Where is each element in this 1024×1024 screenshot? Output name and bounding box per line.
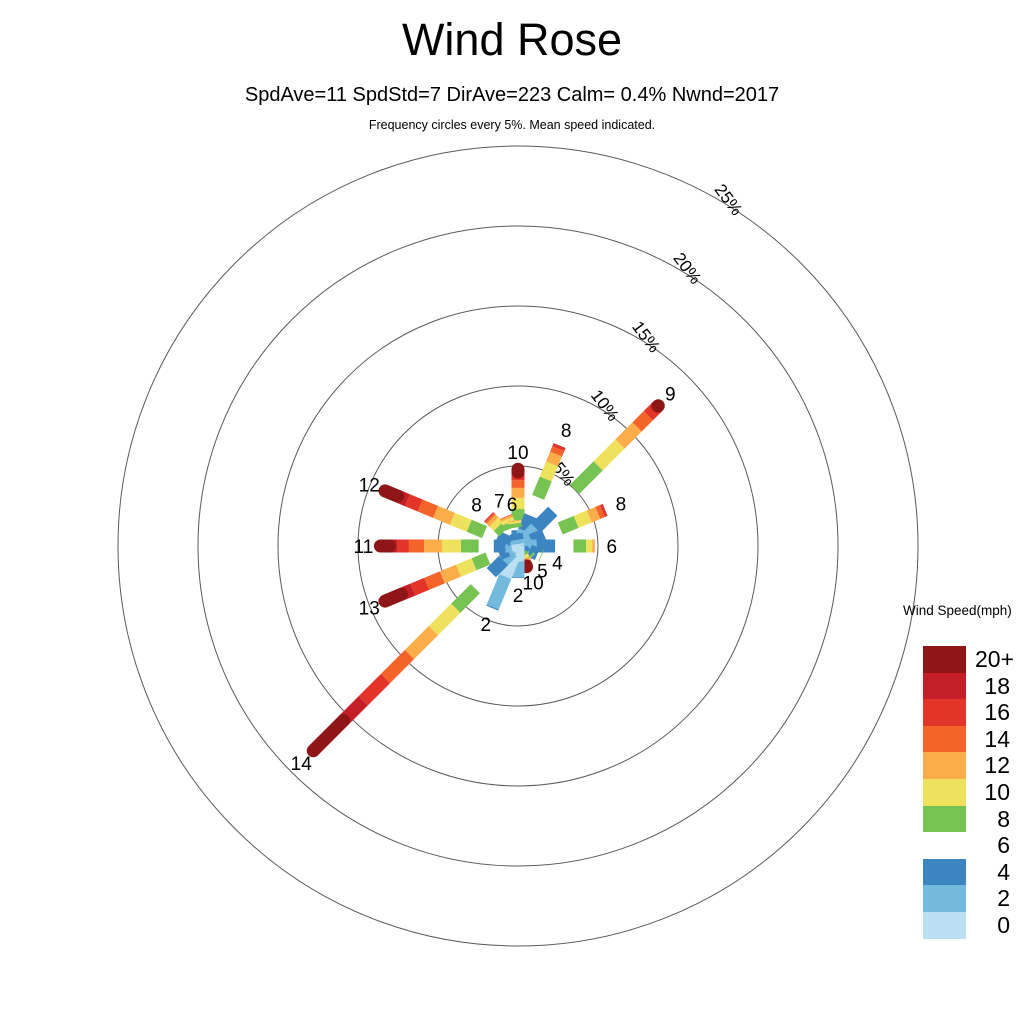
- petal-segment: [485, 532, 498, 537]
- petal-segment: [489, 517, 490, 518]
- wind-rose-plot: 5%10%15%20%25% 10898645102214131112876: [0, 0, 1024, 1024]
- petal-segment: [469, 526, 484, 532]
- petal-segment: [558, 446, 559, 448]
- petal-segment: [531, 497, 539, 515]
- legend-row: 12: [923, 752, 1024, 779]
- petal-mean-speed-label: 11: [354, 537, 374, 558]
- legend-row: 6: [923, 832, 1024, 859]
- petal-segment: [536, 511, 553, 528]
- petal-segment: [420, 505, 435, 511]
- petal-mean-speed-label: 2: [513, 586, 524, 607]
- petal-segment: [556, 449, 558, 454]
- petal-segment: [620, 427, 637, 444]
- petal-segment: [544, 529, 560, 536]
- wind-rose-page: Wind Rose SpdAve=11 SpdStd=7 DirAve=223 …: [0, 0, 1024, 1024]
- legend-label: 10: [966, 779, 1024, 806]
- legend-swatch: [923, 859, 966, 886]
- legend-row: 2: [923, 885, 1024, 912]
- petal-segment: [538, 479, 546, 497]
- petal-segment: [498, 526, 503, 531]
- petal-segment: [363, 678, 385, 700]
- legend-label: 4: [966, 859, 1024, 886]
- legend-swatch: [923, 806, 966, 833]
- legend-label: 0: [966, 912, 1024, 939]
- petal-segment: [385, 491, 398, 496]
- petal-segment: [490, 518, 492, 520]
- petal-mean-speed-label: 9: [665, 385, 676, 406]
- petal-segment: [491, 519, 494, 522]
- petal-segment: [552, 454, 556, 464]
- ring-label-20: 20%: [669, 249, 705, 288]
- petal-segment: [458, 564, 474, 570]
- petal-mean-speed-label: 4: [552, 553, 563, 574]
- petal-segment: [436, 512, 453, 519]
- legend-label: 16: [966, 699, 1024, 726]
- legend-row: 18: [923, 673, 1024, 700]
- petal-mean-speed-label: 13: [359, 599, 380, 620]
- petal-segment: [475, 573, 491, 589]
- petal-mean-speed-label: 8: [471, 496, 482, 517]
- ring-label-15: 15%: [628, 318, 664, 357]
- legend-swatch: [923, 699, 966, 726]
- legend-label: 18: [966, 673, 1024, 700]
- ring-label-10: 10%: [587, 386, 623, 425]
- legend-swatch: [923, 832, 966, 859]
- legend-swatch: [923, 779, 966, 806]
- legend-row: 16: [923, 699, 1024, 726]
- petal-mean-speed-label: 12: [359, 475, 380, 496]
- legend-label: 14: [966, 726, 1024, 753]
- legend-row: 4: [923, 859, 1024, 886]
- petal-segment: [553, 489, 575, 511]
- petal-segment: [386, 655, 410, 679]
- legend-swatch: [923, 885, 966, 912]
- petal-segment: [576, 517, 589, 522]
- legend-label: 12: [966, 752, 1024, 779]
- petal-mean-speed-label: 8: [616, 494, 627, 515]
- legend-swatch: [923, 646, 966, 673]
- petal-NE: [518, 406, 658, 546]
- petal-segment: [537, 554, 540, 555]
- petal-segment: [546, 464, 552, 479]
- frequency-ring-labels: 5%10%15%20%25%: [549, 181, 747, 490]
- legend-label: 2: [966, 885, 1024, 912]
- wind-speed-legend: 20+181614121086420: [923, 646, 1024, 939]
- petal-segment: [493, 576, 506, 606]
- legend-row: 14: [923, 726, 1024, 753]
- wind-petals: [313, 406, 658, 751]
- petal-segment: [598, 444, 620, 466]
- petal-segment: [516, 534, 517, 540]
- petal-mean-speed-label: 7: [494, 492, 505, 513]
- legend-title: Wind Speed(mph): [903, 603, 1012, 618]
- petal-mean-speed-label: 14: [291, 754, 313, 775]
- petal-segment: [589, 513, 598, 517]
- petal-mean-speed-label: 10: [507, 443, 528, 464]
- petal-segment: [452, 519, 469, 526]
- petal-segment: [413, 584, 427, 590]
- petal-segment: [598, 511, 603, 513]
- legend-swatch: [923, 673, 966, 700]
- legend-row: 8: [923, 806, 1024, 833]
- petal-mean-speed-label: 10: [523, 573, 544, 594]
- legend-row: 0: [923, 912, 1024, 939]
- petal-segment: [575, 466, 599, 490]
- legend-label: 20+: [966, 646, 1024, 673]
- petal-segment: [491, 561, 503, 573]
- petal-segment: [560, 522, 576, 529]
- petal-segment: [517, 540, 518, 544]
- legend-swatch: [923, 752, 966, 779]
- petal-SW: [313, 546, 518, 751]
- legend-swatch: [923, 912, 966, 939]
- petal-segment: [602, 510, 604, 511]
- legend-label: 8: [966, 806, 1024, 833]
- petal-segment: [515, 524, 516, 528]
- petal-mean-speed-label: 2: [480, 615, 491, 636]
- petal-segment: [474, 558, 488, 564]
- legend-row: 20+: [923, 646, 1024, 673]
- legend-row: 10: [923, 779, 1024, 806]
- petal-mean-speed-label: 6: [607, 537, 618, 558]
- petal-segment: [313, 720, 343, 750]
- petal-mean-speed-label: 6: [507, 495, 518, 516]
- petal-segment: [409, 631, 433, 655]
- petal-segment: [506, 517, 507, 519]
- petal-segment: [456, 589, 476, 609]
- legend-swatch: [923, 726, 966, 753]
- petal-segment: [494, 522, 498, 526]
- petal-segment: [442, 571, 458, 578]
- petal-segment: [433, 608, 455, 630]
- petal-segment: [427, 577, 443, 583]
- petal-segment: [407, 500, 420, 505]
- petal-segment: [385, 594, 401, 601]
- petal-segment: [637, 416, 648, 427]
- legend-label: 6: [966, 832, 1024, 859]
- petal-mean-speed-label: 8: [561, 421, 572, 442]
